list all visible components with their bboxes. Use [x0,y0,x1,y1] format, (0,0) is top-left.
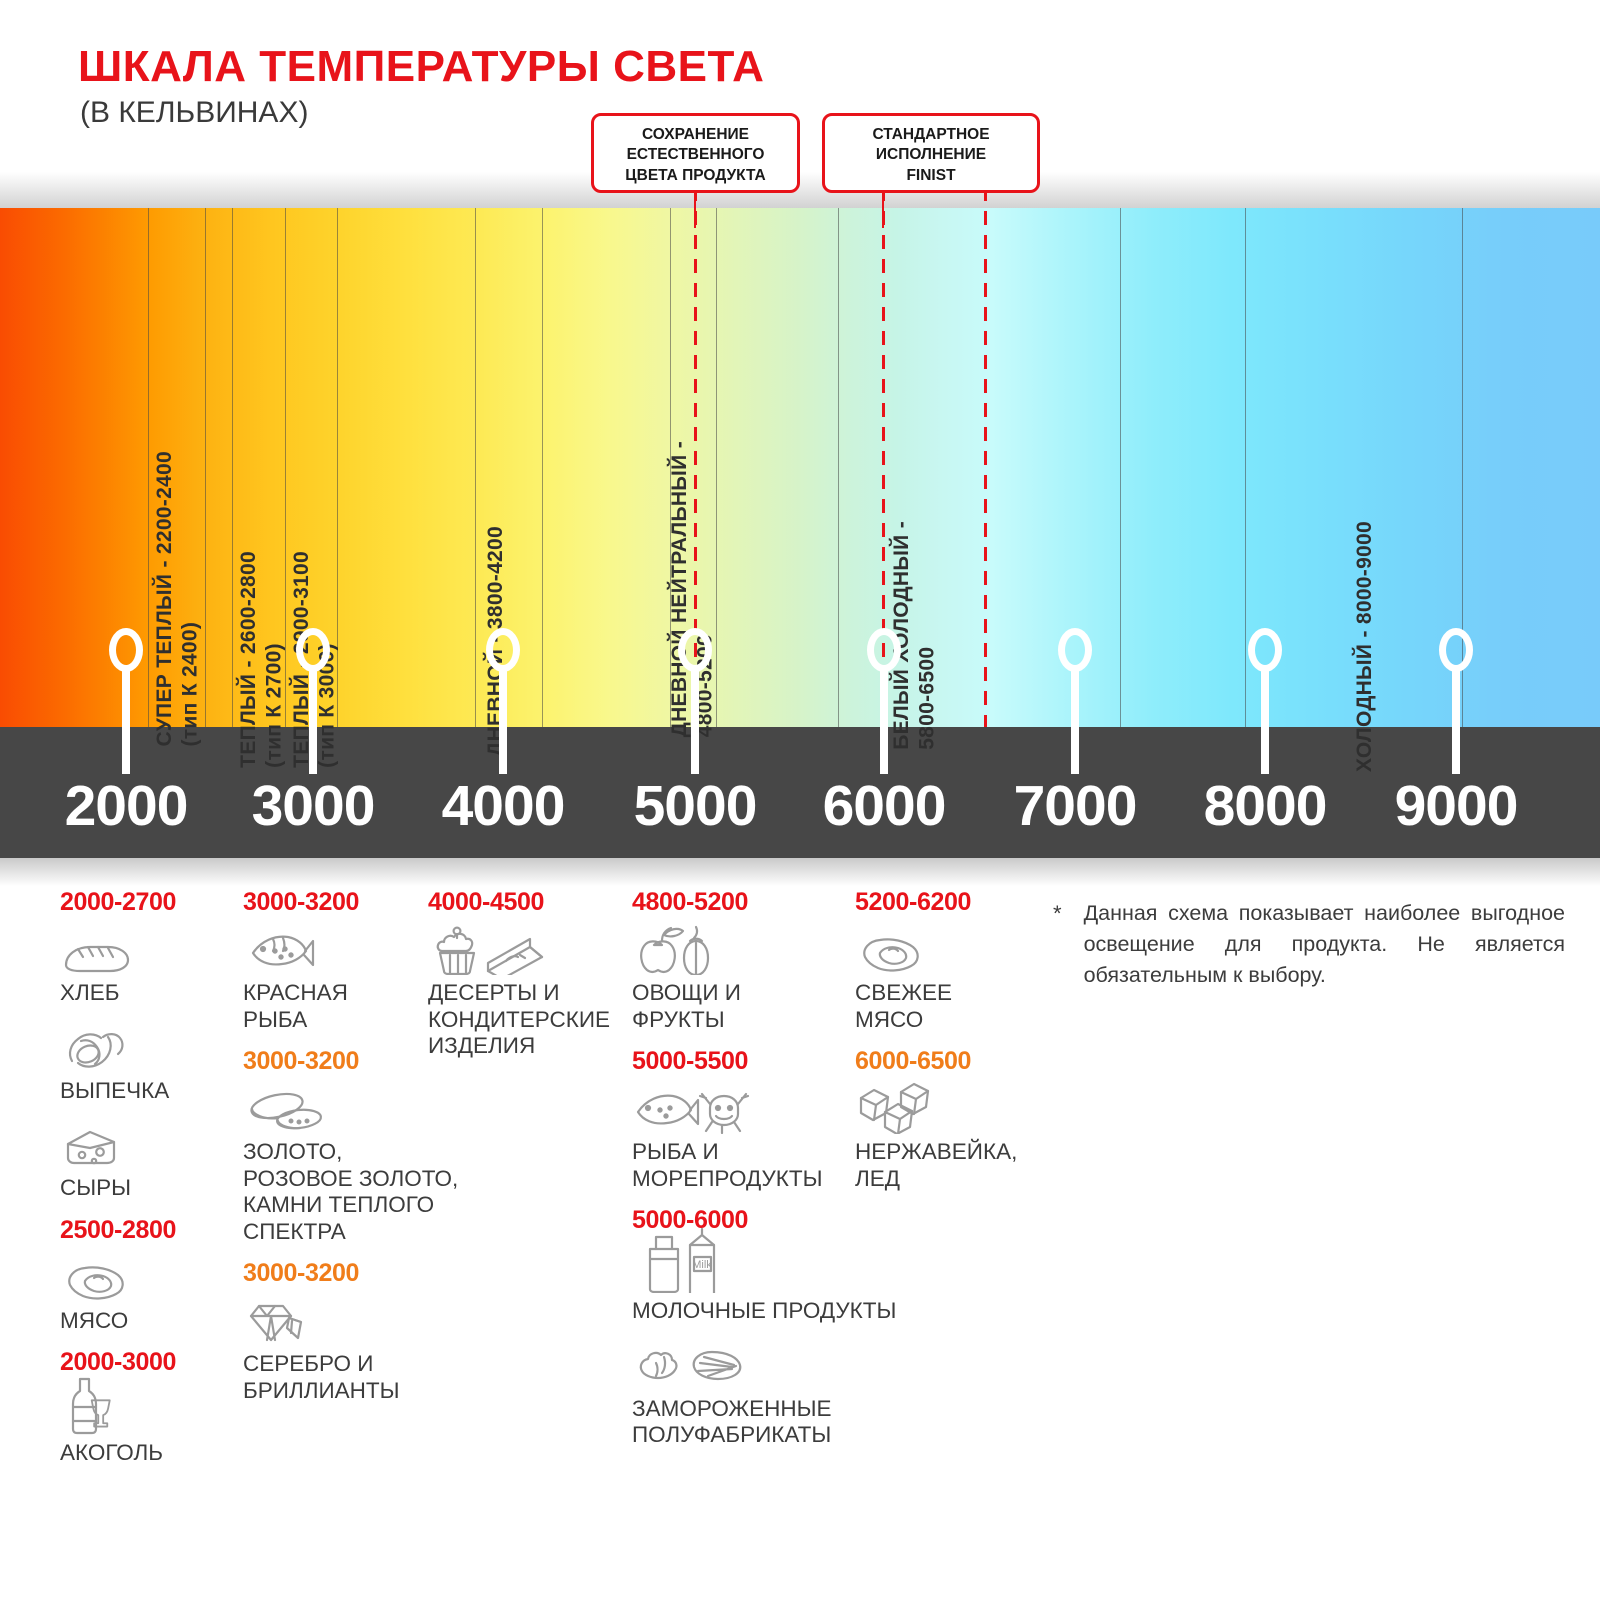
product-name: ДЕСЕРТЫ И КОНДИТЕРСКИЕ ИЗДЕЛИЯ [428,980,610,1060]
callout-stem-natural-color [694,193,696,228]
kelvin-range-label: 3000-3200 [243,888,458,917]
zone-label: ТЕПЛЫЙ - 2600-2800 (тип К 2700) [236,551,287,768]
pin-stem [1452,666,1460,774]
product-name: МОЛОЧНЫЕ ПРОДУКТЫ [632,1298,896,1325]
pin-head [1439,628,1473,672]
product-group: 4000-4500ДЕСЕРТЫ И КОНДИТЕРСКИЕ ИЗДЕЛИЯ [428,888,610,1060]
product-column-0: 2000-2700ХЛЕБВЫПЕЧКАСЫРЫ2500-2800МЯСО200… [60,888,176,1481]
header: ШКАЛА ТЕМПЕРАТУРЫ СВЕТА (В КЕЛЬВИНАХ) [0,0,1600,200]
footnote-text: Данная схема показывает наиболее выгодно… [1084,898,1565,992]
product-item: СВЕЖЕЕ МЯСО [855,923,1017,1033]
bar-top-shadow [0,172,1600,208]
footnote: * Данная схема показывает наиболее выгод… [1053,898,1565,992]
kelvin-range-label: 4000-4500 [428,888,610,917]
product-group: 6000-6500НЕРЖАВЕЙКА, ЛЕД [855,1047,1017,1192]
product-group: 3000-3200ЗОЛОТО, РОЗОВОЕ ЗОЛОТО, КАМНИ Т… [243,1047,458,1245]
tick-label-3000: 3000 [223,773,403,839]
pin-head [109,628,143,672]
zone-divider [475,208,476,727]
kelvin-range-label: 2500-2800 [60,1216,176,1245]
product-group: 2000-2700ХЛЕБВЫПЕЧКАСЫРЫ [60,888,176,1202]
pin-stem [499,666,507,774]
zone-divider [838,208,839,727]
kelvin-range-label: 5200-6200 [855,888,1017,917]
alcohol-icon [60,1383,176,1435]
zone-divider [205,208,206,727]
zone-divider [232,208,233,727]
product-name: ЗАМОРОЖЕННЫЕ ПОЛУФАБРИКАТЫ [632,1396,896,1449]
zone-divider [542,208,543,727]
product-column-1: 3000-3200КРАСНАЯ РЫБА3000-3200ЗОЛОТО, РО… [243,888,458,1418]
ice-cubes-icon [855,1082,1017,1134]
frozen-food-icon [632,1339,896,1391]
pin-stem [691,666,699,774]
zone-label: СУПЕР ТЕПЛЫЙ - 2200-2400 (тип К 2400) [152,451,203,747]
tick-label-2000: 2000 [36,773,216,839]
callout-natural-color[interactable]: СОХРАНЕНИЕ ЕСТЕСТВЕННОГО ЦВЕТА ПРОДУКТА [591,113,800,193]
product-group: 2500-2800МЯСО [60,1216,176,1335]
product-group: 3000-3200СЕРЕБРО И БРИЛЛИАНТЫ [243,1259,458,1404]
product-name: СЕРЕБРО И БРИЛЛИАНТЫ [243,1351,458,1404]
tick-label-7000: 7000 [985,773,1165,839]
product-name: ВЫПЕЧКА [60,1078,176,1105]
gold-rings-icon [243,1082,458,1134]
product-name: МЯСО [60,1308,176,1335]
product-name: ХЛЕБ [60,980,176,1007]
pin-head [867,628,901,672]
fresh-meat-icon [855,923,1017,975]
product-column-4: 5200-6200СВЕЖЕЕ МЯСО6000-6500НЕРЖАВЕЙКА,… [855,888,1017,1206]
page-subtitle: (В КЕЛЬВИНАХ) [80,96,308,130]
product-item: КРАСНАЯ РЫБА [243,923,458,1033]
zone-divider [148,208,149,727]
pin-stem [1261,666,1269,774]
product-name: КРАСНАЯ РЫБА [243,980,458,1033]
product-item: ВЫПЕЧКА [60,1021,176,1105]
product-item: СЫРЫ [60,1118,176,1202]
kelvin-range-label: 3000-3200 [243,1259,458,1288]
product-item: МЯСО [60,1251,176,1335]
product-item: ХЛЕБ [60,923,176,1007]
product-item: ЗОЛОТО, РОЗОВОЕ ЗОЛОТО, КАМНИ ТЕПЛОГО СП… [243,1082,458,1245]
kelvin-range-label: 2000-2700 [60,888,176,917]
zone-divider [1245,208,1246,727]
page-title: ШКАЛА ТЕМПЕРАТУРЫ СВЕТА [78,42,764,92]
product-item: ЗАМОРОЖЕННЫЕ ПОЛУФАБРИКАТЫ [632,1339,896,1449]
pin-head [486,628,520,672]
zone-label: ХОЛОДНЫЙ - 8000-9000 [1352,521,1378,772]
color-temperature-gradient-bar: СУПЕР ТЕПЛЫЙ - 2200-2400 (тип К 2400)ТЕП… [0,208,1600,727]
kelvin-range-label: 3000-3200 [243,1047,458,1076]
dessert-icon [428,923,610,975]
product-name: ЗОЛОТО, РОЗОВОЕ ЗОЛОТО, КАМНИ ТЕПЛОГО СП… [243,1139,458,1245]
product-group: 5000-6000MilkМОЛОЧНЫЕ ПРОДУКТЫЗАМОРОЖЕНН… [632,1206,896,1449]
callout-stem-standard-finist [882,193,884,228]
product-group: 2000-3000АКОГОЛЬ [60,1348,176,1467]
scale-bottom-shadow [0,858,1600,886]
pin-head [1058,628,1092,672]
product-name: АКОГОЛЬ [60,1440,176,1467]
pin-stem [880,666,888,774]
pin-head [1248,628,1282,672]
product-name: НЕРЖАВЕЙКА, ЛЕД [855,1139,1017,1192]
product-column-2: 4000-4500ДЕСЕРТЫ И КОНДИТЕРСКИЕ ИЗДЕЛИЯ [428,888,610,1074]
pin-stem [122,666,130,774]
product-item: АКОГОЛЬ [60,1383,176,1467]
bread-icon [60,923,176,975]
pin-head [296,628,330,672]
milk-icon: Milk [632,1241,896,1293]
red-dashed-marker-line [984,163,987,727]
kelvin-range-label: 6000-6500 [855,1047,1017,1076]
product-group: 5200-6200СВЕЖЕЕ МЯСО [855,888,1017,1033]
croissant-icon [60,1021,176,1073]
svg-text:Milk: Milk [692,1259,712,1271]
callout-standard-finist[interactable]: СТАНДАРТНОЕ ИСПОЛНЕНИЕ FINIST [822,113,1040,193]
tick-label-5000: 5000 [605,773,785,839]
product-name: СВЕЖЕЕ МЯСО [855,980,1017,1033]
tick-label-9000: 9000 [1366,773,1546,839]
product-item: MilkМОЛОЧНЫЕ ПРОДУКТЫ [632,1241,896,1325]
pin-stem [1071,666,1079,774]
product-item: СЕРЕБРО И БРИЛЛИАНТЫ [243,1294,458,1404]
pin-stem [309,666,317,774]
product-item: ДЕСЕРТЫ И КОНДИТЕРСКИЕ ИЗДЕЛИЯ [428,923,610,1060]
red-fish-icon [243,923,458,975]
product-group: 3000-3200КРАСНАЯ РЫБА [243,888,458,1033]
tick-label-8000: 8000 [1175,773,1355,839]
cheese-icon [60,1118,176,1170]
pin-head [678,628,712,672]
zone-divider [1120,208,1121,727]
product-item: НЕРЖАВЕЙКА, ЛЕД [855,1082,1017,1192]
product-name: СЫРЫ [60,1175,176,1202]
diamond-icon [243,1294,458,1346]
tick-label-4000: 4000 [413,773,593,839]
tick-label-6000: 6000 [794,773,974,839]
footnote-asterisk: * [1053,898,1062,992]
meat-icon [60,1251,176,1303]
